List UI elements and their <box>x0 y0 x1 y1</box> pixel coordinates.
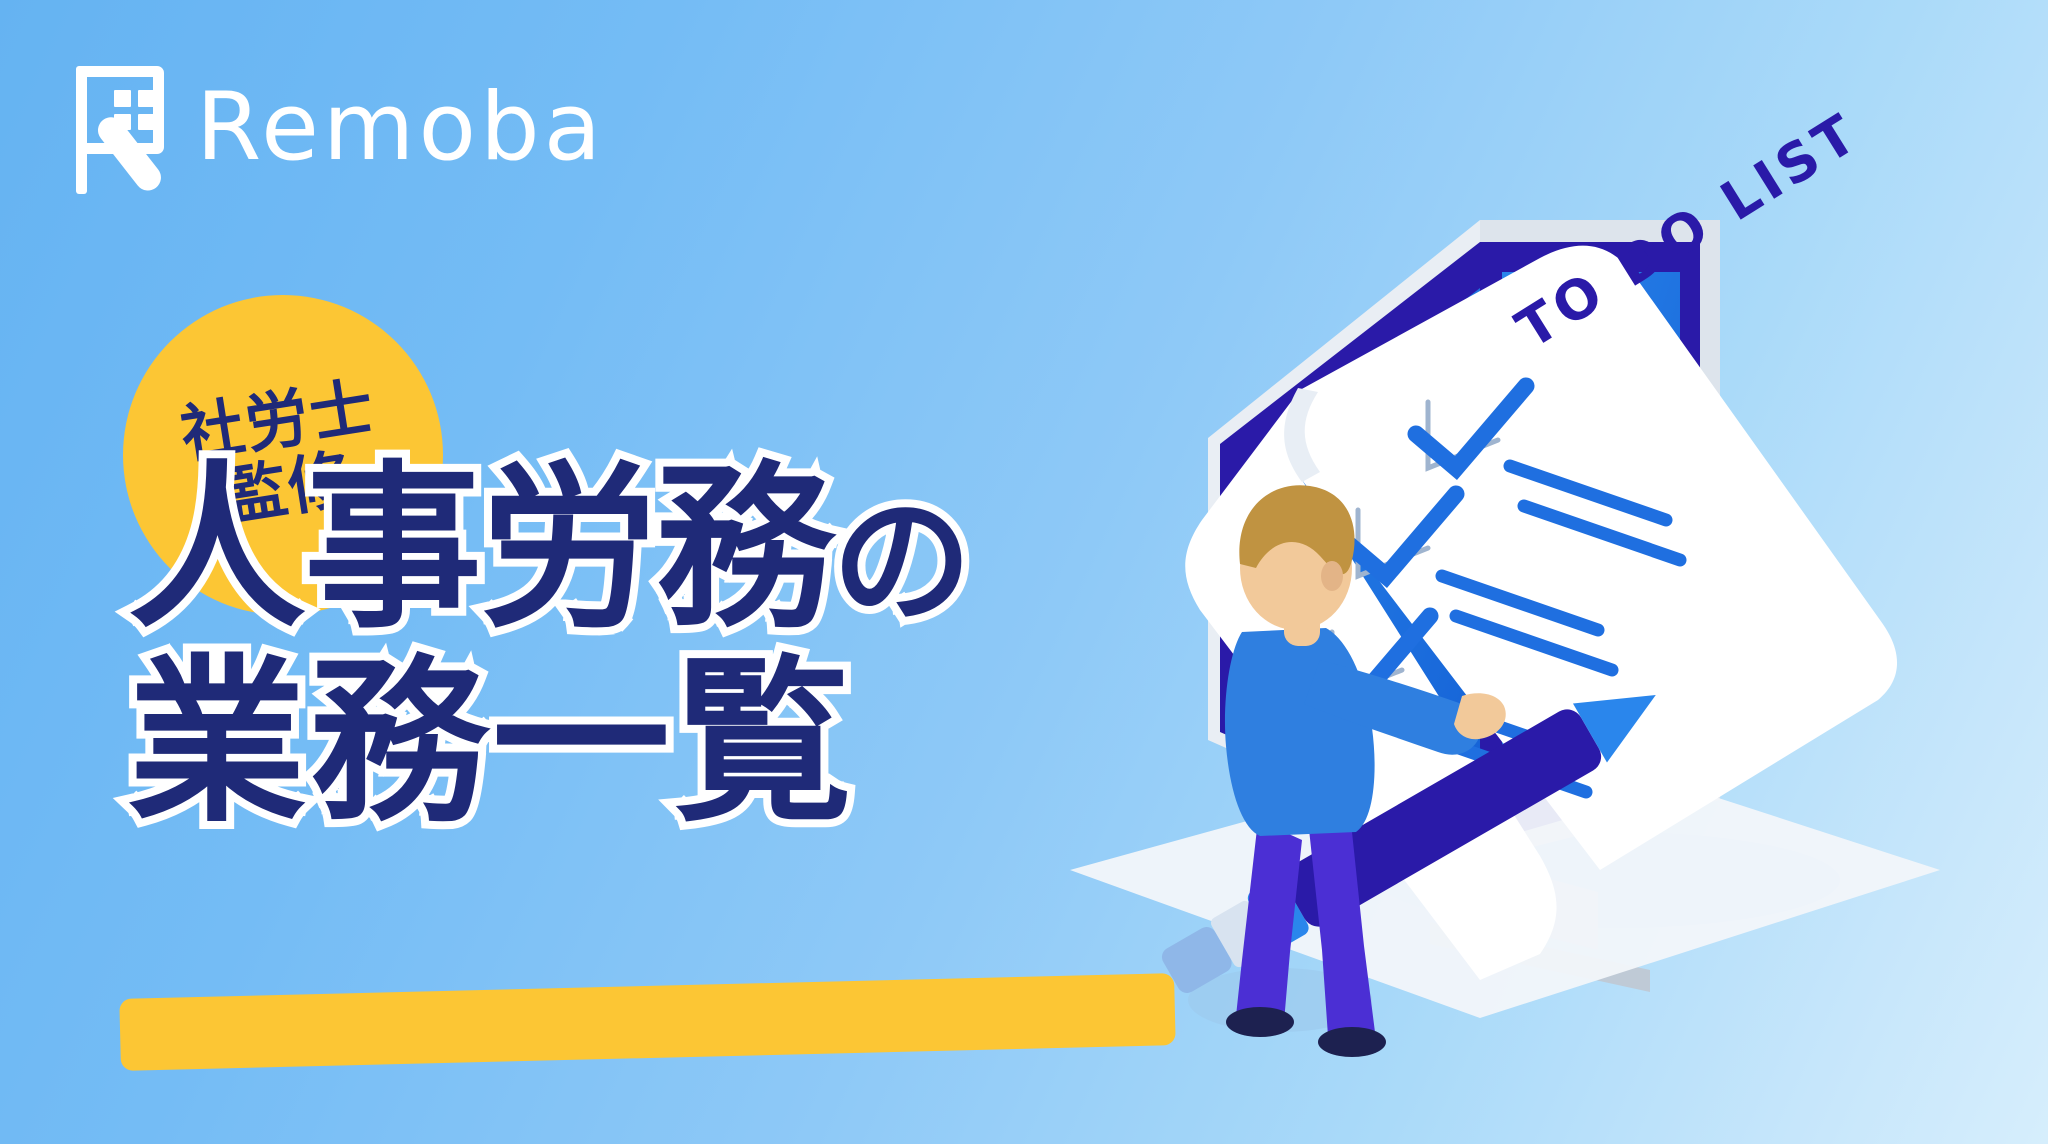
hero-banner: Remoba 社労士 監修 人事労務の 業務一覧 <box>0 0 2048 1144</box>
hero-illustration: TO DO LIST <box>1180 180 1980 1080</box>
headline-underline <box>119 973 1175 1071</box>
brand-name: Remoba <box>196 81 605 175</box>
headline-line-1: 人事労務の <box>128 460 970 638</box>
page-title: 人事労務の 業務一覧 <box>128 460 970 832</box>
headline-line-1-main: 人事労務 <box>128 445 832 652</box>
headline-line-2: 業務一覧 <box>128 654 970 832</box>
remoba-logo-mark-icon <box>62 58 170 198</box>
headline-line-1-suffix: の <box>832 481 970 644</box>
brand-logo[interactable]: Remoba <box>62 58 605 198</box>
